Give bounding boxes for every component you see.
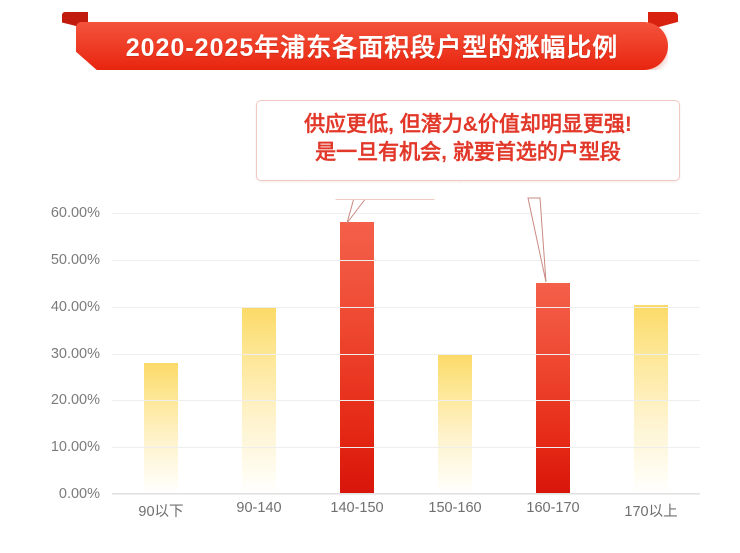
gridline — [112, 354, 700, 355]
y-axis-tick-label: 20.00% — [51, 392, 112, 408]
y-axis-tick-label: 50.00% — [51, 252, 112, 268]
x-axis-tick-label: 150-160 — [406, 500, 504, 521]
x-axis-tick-label: 90以下 — [112, 500, 210, 521]
y-axis-tick-label: 0.00% — [59, 486, 112, 502]
x-axis-tick-label: 90-140 — [210, 500, 308, 521]
bar-160-170[interactable] — [536, 283, 570, 494]
gridline — [112, 494, 700, 495]
bar-150-160[interactable] — [438, 354, 472, 495]
callout-line-2: 是一旦有机会, 就要首选的户型段 — [267, 139, 669, 167]
y-axis-tick-label: 30.00% — [51, 346, 112, 362]
y-axis-tick-label: 10.00% — [51, 439, 112, 455]
x-axis-tick-label: 170以上 — [602, 500, 700, 521]
bar-140-150[interactable] — [340, 222, 374, 494]
x-axis-labels: 90以下90-140140-150150-160160-170170以上 — [112, 500, 700, 521]
callout-line-1: 供应更低, 但潜力&价值却明显更强! — [267, 111, 669, 139]
bar-90以下[interactable] — [144, 363, 178, 494]
gridline — [112, 260, 700, 261]
plot-area: 60.00%50.00%40.00%30.00%20.00%10.00%0.00… — [112, 213, 700, 494]
bar-chart: 60.00%50.00%40.00%30.00%20.00%10.00%0.00… — [0, 0, 740, 553]
x-axis-tick-label: 140-150 — [308, 500, 406, 521]
gridline — [112, 447, 700, 448]
gridline — [112, 400, 700, 401]
y-axis-tick-label: 60.00% — [51, 205, 112, 221]
gridline — [112, 213, 700, 214]
x-axis-tick-label: 160-170 — [504, 500, 602, 521]
y-axis-tick-label: 40.00% — [51, 299, 112, 315]
callout-box: 供应更低, 但潜力&价值却明显更强! 是一旦有机会, 就要首选的户型段 — [256, 100, 680, 181]
gridline — [112, 307, 700, 308]
